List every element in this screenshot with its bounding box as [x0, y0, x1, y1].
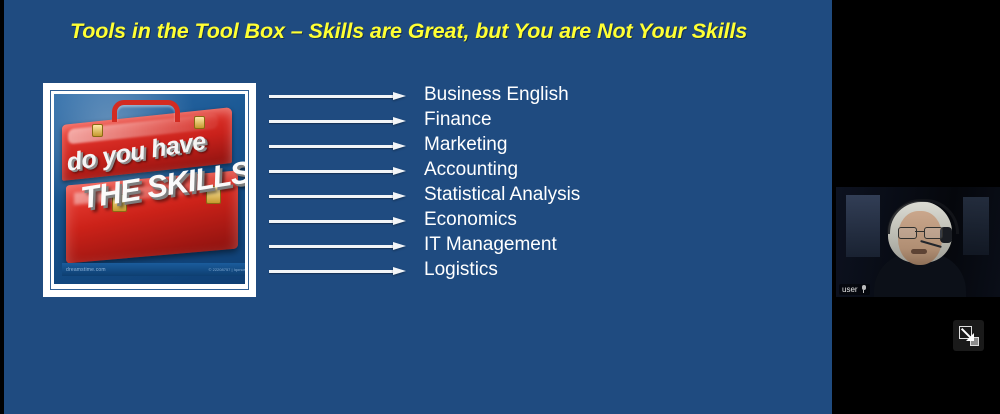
list-item-label: Accounting	[424, 159, 518, 181]
skills-list: Business English Finance Marketing	[269, 86, 809, 286]
arrow-right-icon	[269, 217, 409, 226]
arrow-head	[393, 267, 406, 275]
list-item: IT Management	[269, 236, 809, 261]
arrow-head	[393, 92, 406, 100]
webcam-feed	[836, 187, 1000, 297]
toolbox-watermark-bar: dreamstime.com © 22208757 | Iqoncept	[62, 263, 245, 276]
stock-id-watermark: © 22208757 | Iqoncept	[209, 267, 245, 272]
toolbox-handle	[112, 100, 180, 122]
arrow-head	[393, 242, 406, 250]
arrow-shaft	[269, 270, 397, 273]
arrow-head	[393, 117, 406, 125]
eyeglasses	[897, 227, 943, 237]
arrow-head	[393, 217, 406, 225]
list-item-label: Logistics	[424, 259, 498, 281]
toolbox-image: do you have THE SKILLS? dreamstime.com ©…	[43, 83, 256, 297]
list-item-label: Finance	[424, 109, 492, 131]
list-item: Logistics	[269, 261, 809, 286]
arrow-shaft	[269, 120, 397, 123]
list-item: Business English	[269, 86, 809, 111]
participant-video-tile[interactable]: user	[836, 187, 1000, 297]
eyeglass-lens	[898, 227, 917, 239]
background-window	[963, 197, 989, 255]
screen-share-stage: Tools in the Tool Box – Skills are Great…	[0, 0, 1000, 414]
toolbox-photo: do you have THE SKILLS? dreamstime.com ©…	[54, 94, 245, 284]
list-item: Finance	[269, 111, 809, 136]
arrow-right-icon	[269, 92, 409, 101]
eyeglass-bridge	[915, 231, 924, 232]
list-item-label: IT Management	[424, 234, 557, 256]
arrow-shaft	[269, 170, 397, 173]
arrow-right-icon	[269, 117, 409, 126]
arrow-shaft	[269, 245, 397, 248]
toolbox-latch	[112, 194, 127, 212]
arrow-shaft	[269, 145, 397, 148]
arrow-head	[393, 142, 406, 150]
arrow-right-icon	[269, 192, 409, 201]
list-item-label: Economics	[424, 209, 517, 231]
list-item: Economics	[269, 211, 809, 236]
toolbox-body	[66, 170, 238, 263]
restore-down-icon	[959, 326, 979, 346]
arrow-shaft	[269, 195, 397, 198]
arrow-right-icon	[269, 267, 409, 276]
list-item-label: Marketing	[424, 134, 507, 156]
list-item: Accounting	[269, 161, 809, 186]
eyeglass-lens	[924, 227, 943, 239]
participant-name-badge: user	[839, 284, 870, 295]
arrow-head	[393, 167, 406, 175]
list-item: Statistical Analysis	[269, 186, 809, 211]
list-item: Marketing	[269, 136, 809, 161]
arrow-head	[393, 192, 406, 200]
arrow-shaft	[269, 220, 397, 223]
toolbox-latch	[194, 116, 205, 129]
arrow-right-icon	[269, 242, 409, 251]
microphone-icon	[861, 285, 867, 294]
toolbox-latch	[92, 124, 103, 137]
person-mouth	[911, 249, 927, 254]
toolbox-body-highlight	[74, 180, 224, 205]
list-item-label: Statistical Analysis	[424, 184, 580, 206]
arrow-right-icon	[269, 142, 409, 151]
restore-down-button[interactable]	[953, 320, 984, 351]
participant-name-label: user	[842, 286, 858, 294]
slide-title: Tools in the Tool Box – Skills are Great…	[70, 19, 790, 44]
presentation-slide[interactable]: Tools in the Tool Box – Skills are Great…	[4, 0, 832, 414]
arrow-shaft	[269, 95, 397, 98]
stock-site-watermark: dreamstime.com	[66, 267, 106, 273]
background-window	[846, 195, 880, 257]
list-item-label: Business English	[424, 84, 569, 106]
toolbox-latch	[206, 186, 221, 204]
arrow-right-icon	[269, 167, 409, 176]
